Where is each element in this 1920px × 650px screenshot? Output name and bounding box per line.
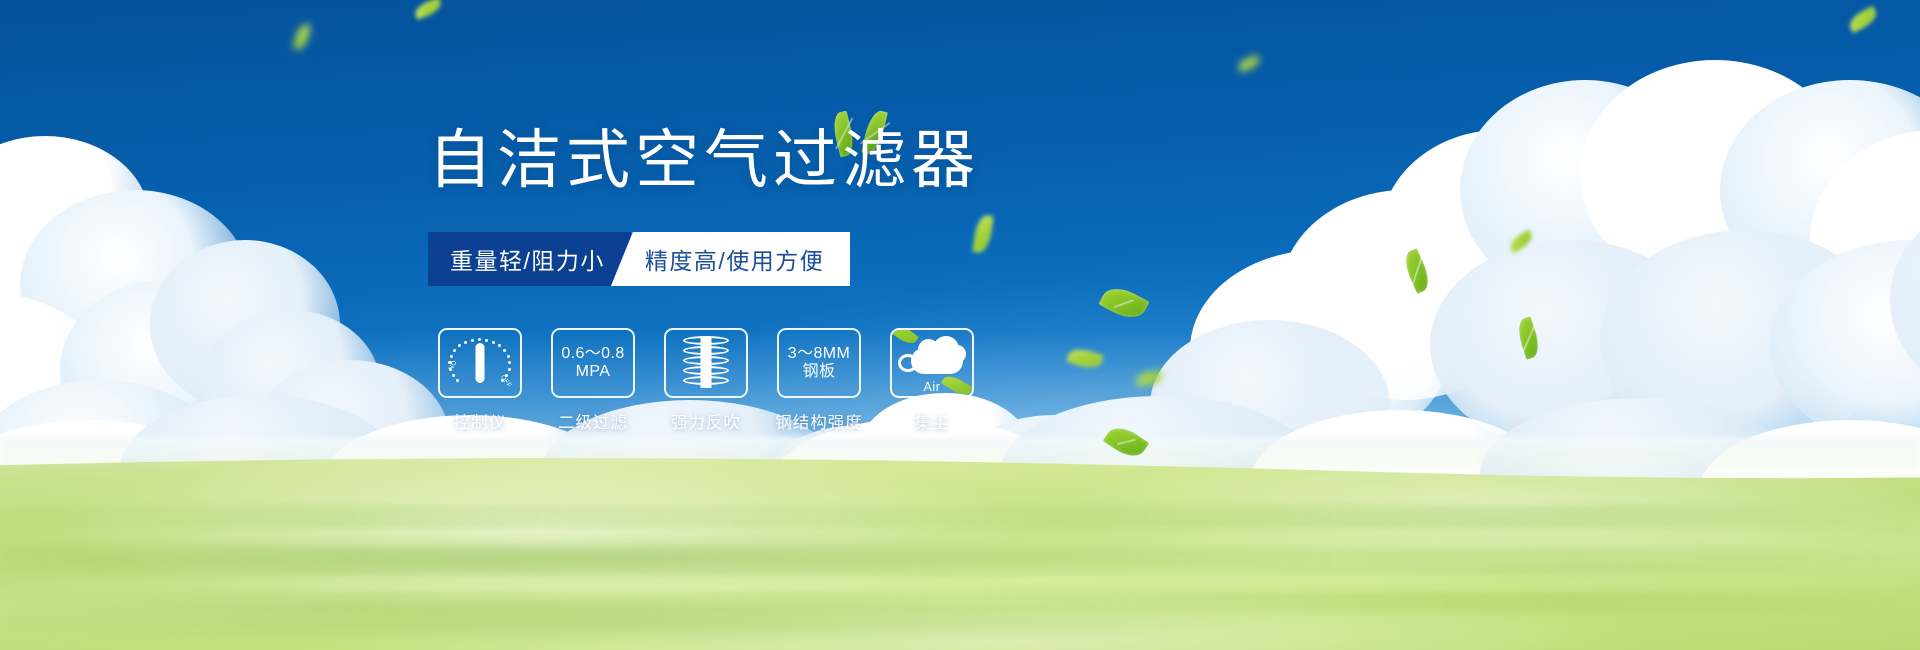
dial-needle — [476, 343, 485, 383]
feature-two-stage-filtration[interactable]: 0.6～0.8 MPA 二级过滤 — [551, 328, 635, 433]
feature-label-dust-collection: 集尘 — [915, 409, 950, 433]
dial-label-off: OFF — [499, 374, 513, 389]
feature-label-strong-blowback: 强力反吹 — [671, 409, 741, 433]
gauge-dial-icon: NO OFF — [449, 336, 511, 390]
feature-box-pressure: 0.6～0.8 MPA — [551, 328, 635, 398]
tab-lightweight-low-resistance[interactable]: 重量轻/阻力小 — [428, 232, 631, 286]
pressure-text-icon: 0.6～0.8 MPA — [561, 345, 624, 381]
feature-box-blowback — [664, 328, 748, 398]
grass-texture-band — [0, 506, 1920, 528]
tab-primary-label: 重量轻/阻力小 — [450, 242, 605, 276]
filter-cartridge-icon — [683, 336, 729, 390]
grass-ridge — [0, 538, 1920, 578]
grass-ridge — [0, 600, 1920, 640]
leaf-decoration — [1135, 371, 1162, 387]
feature-label-controller: 控制仪 — [454, 409, 507, 433]
feature-dust-collection[interactable]: Air 集尘 — [890, 328, 974, 433]
tab-secondary-label: 精度高/使用方便 — [645, 242, 824, 276]
feature-tabs: 重量轻/阻力小 精度高/使用方便 — [428, 232, 850, 286]
steel-value: 3～8MM 钢板 — [788, 345, 850, 380]
feature-label-two-stage-filtration: 二级过滤 — [558, 409, 628, 433]
feature-strong-blowback[interactable]: 强力反吹 — [664, 328, 748, 433]
steel-plate-text-icon: 3～8MM 钢板 — [788, 345, 850, 381]
feature-steel-strength[interactable]: 3～8MM 钢板 钢结构强度 — [777, 328, 861, 433]
tab-high-precision-easy-use[interactable]: 精度高/使用方便 — [611, 232, 850, 286]
headline-text: 自洁式空气过滤器 — [428, 128, 980, 192]
page-title: 自洁式空气过滤器 — [428, 128, 980, 192]
cloud-small-ring — [898, 354, 918, 372]
feature-box-controller: NO OFF — [438, 328, 522, 398]
product-banner: 自洁式空气过滤器 重量轻/阻力小 精度高/使用方便 — [0, 0, 1920, 650]
air-cloud-icon: Air — [898, 335, 966, 391]
pressure-value: 0.6～0.8 MPA — [561, 345, 624, 380]
air-label: Air — [898, 380, 966, 394]
feature-controller[interactable]: NO OFF 控制仪 — [438, 328, 522, 433]
feature-label-steel-strength: 钢结构强度 — [775, 409, 863, 433]
cloud-icon-leaf — [890, 328, 919, 348]
feature-box-steel: 3～8MM 钢板 — [777, 328, 861, 398]
feature-icon-row: NO OFF 控制仪 0.6～0.8 MPA 二级过滤 — [438, 328, 974, 433]
feature-box-dust: Air — [890, 328, 974, 398]
